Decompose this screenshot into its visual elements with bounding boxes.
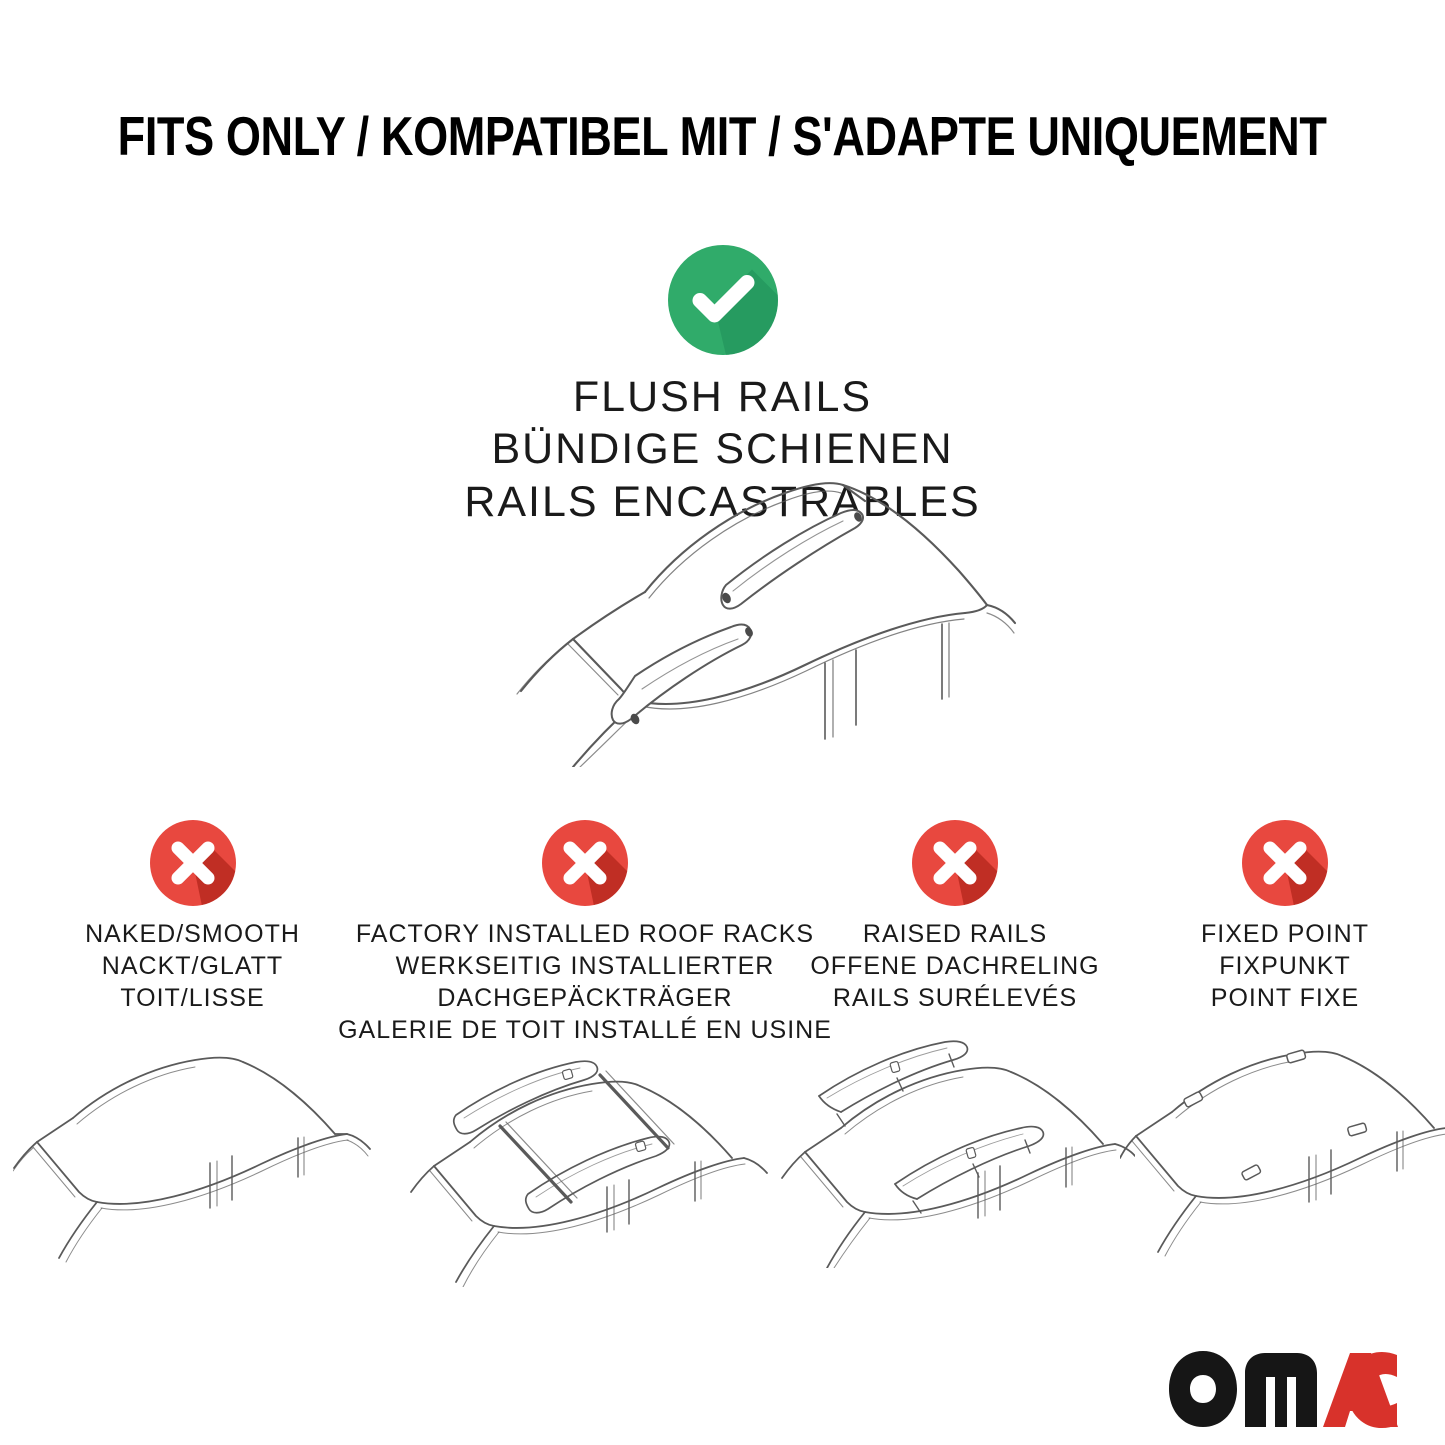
car-roof-naked-illustration: [13, 1040, 373, 1275]
incompatible-labels: RAISED RAILS OFFENE DACHRELING RAILS SUR…: [810, 918, 1099, 1014]
check-circle-icon: [668, 245, 778, 355]
incompatible-labels: NAKED/SMOOTH NACKT/GLATT TOIT/LISSE: [85, 918, 300, 1014]
page-title-bar: FITS ONLY / KOMPATIBEL MIT / S'ADAPTE UN…: [0, 96, 1445, 176]
x-circle-icon: [150, 820, 236, 906]
incompatible-labels: FACTORY INSTALLED ROOF RACKS WERKSEITIG …: [338, 918, 832, 1046]
label-fr: RAILS SURÉLEVÉS: [810, 982, 1099, 1014]
label-de-1: WERKSEITIG INSTALLIERTER: [338, 950, 832, 982]
incompatible-section: NAKED/SMOOTH NACKT/GLATT TOIT/LISSE: [0, 820, 1445, 1292]
car-roof-with-factory-crossbars-illustration: [400, 1042, 770, 1292]
car-roof-with-flush-rails-illustration: [0, 467, 1445, 767]
x-circle-icon: [912, 820, 998, 906]
incompatible-item-naked-smooth: NAKED/SMOOTH NACKT/GLATT TOIT/LISSE: [0, 820, 385, 1292]
label-de: OFFENE DACHRELING: [810, 950, 1099, 982]
label-de-2: DACHGEPÄCKTRÄGER: [338, 982, 832, 1014]
label-fr: TOIT/LISSE: [85, 982, 300, 1014]
label-de: FIXPUNKT: [1201, 950, 1369, 982]
compatible-label-en: FLUSH RAILS: [0, 371, 1445, 423]
incompatible-item-factory-installed-roof-racks: FACTORY INSTALLED ROOF RACKS WERKSEITIG …: [385, 820, 785, 1292]
compatible-badge-wrap: [0, 245, 1445, 355]
x-circle-icon: [1242, 820, 1328, 906]
label-fr: POINT FIXE: [1201, 982, 1369, 1014]
compatible-section: FLUSH RAILS BÜNDIGE SCHIENEN RAILS ENCAS…: [0, 245, 1445, 528]
car-roof-with-fixed-points-illustration: [1120, 1040, 1445, 1270]
label-en: NAKED/SMOOTH: [85, 918, 300, 950]
omac-logo: [1167, 1349, 1403, 1433]
label-en: FIXED POINT: [1201, 918, 1369, 950]
label-de: NACKT/GLATT: [85, 950, 300, 982]
incompatible-item-fixed-point: FIXED POINT FIXPUNKT POINT FIXE: [1125, 820, 1445, 1292]
page-title: FITS ONLY / KOMPATIBEL MIT / S'ADAPTE UN…: [118, 109, 1327, 164]
incompatible-item-raised-rails: RAISED RAILS OFFENE DACHRELING RAILS SUR…: [785, 820, 1125, 1292]
incompatible-labels: FIXED POINT FIXPUNKT POINT FIXE: [1201, 918, 1369, 1014]
label-en: FACTORY INSTALLED ROOF RACKS: [338, 918, 832, 950]
car-roof-with-raised-rails-illustration: [775, 1036, 1135, 1273]
label-en: RAISED RAILS: [810, 918, 1099, 950]
x-circle-icon: [542, 820, 628, 906]
